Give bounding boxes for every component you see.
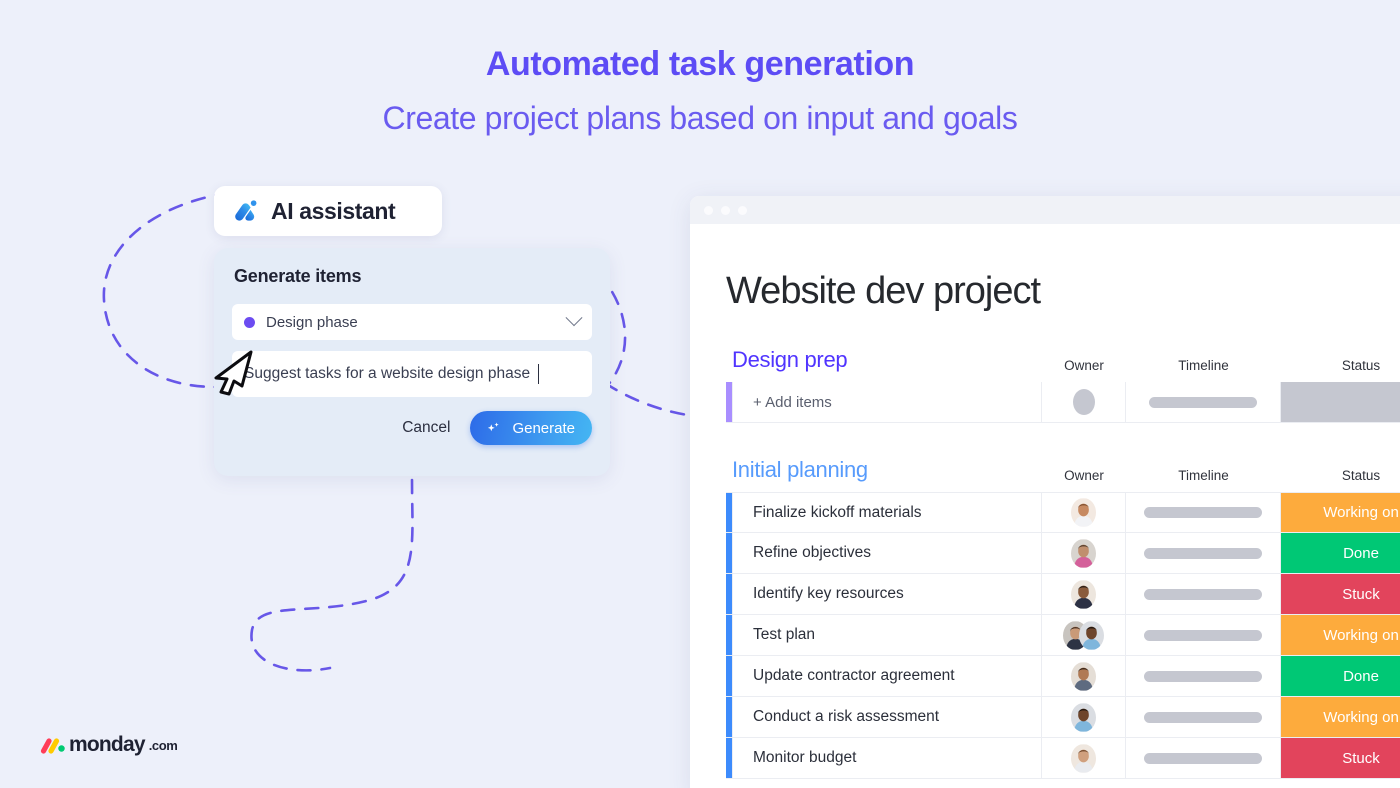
timeline-cell[interactable]	[1126, 574, 1281, 614]
board-title: Website dev project	[726, 270, 1400, 313]
table-body: Finalize kickoff materialsWorking onRefi…	[726, 492, 1400, 779]
owner-cell[interactable]	[1042, 574, 1126, 614]
generate-button-label: Generate	[512, 420, 575, 437]
group-title[interactable]: Initial planning	[726, 457, 1042, 483]
generate-items-title: Generate items	[234, 266, 592, 287]
avatar-placeholder	[1073, 389, 1095, 415]
owner-cell[interactable]	[1042, 493, 1126, 532]
board-select-value: Design phase	[266, 314, 568, 331]
board-select[interactable]: Design phase	[232, 304, 592, 340]
avatar[interactable]	[1071, 662, 1096, 691]
timeline-placeholder	[1149, 397, 1257, 408]
page-title: Automated task generation	[0, 44, 1400, 85]
avatar[interactable]	[1071, 498, 1096, 527]
status-badge[interactable]: Done	[1281, 533, 1400, 573]
item-name-cell[interactable]: Identify key resources	[732, 574, 1042, 614]
item-name-cell[interactable]: Update contractor agreement	[732, 656, 1042, 696]
table-row[interactable]: Identify key resourcesStuck	[726, 574, 1400, 615]
board-group-initial-planning: Initial planning Owner Timeline Status F…	[726, 457, 1400, 779]
close-dot-icon[interactable]	[704, 206, 713, 215]
board-body: Website dev project Design prep Owner Ti…	[690, 224, 1400, 779]
status-badge[interactable]: Working on	[1281, 493, 1400, 532]
owner-cell[interactable]	[1042, 738, 1126, 778]
page-subtitle: Create project plans based on input and …	[0, 99, 1400, 137]
item-name-cell[interactable]: Test plan	[732, 615, 1042, 655]
table-row[interactable]: Update contractor agreementDone	[726, 656, 1400, 697]
add-items-row[interactable]: + Add items	[726, 382, 1400, 423]
add-items-label: + Add items	[753, 394, 832, 411]
header: Automated task generation Create project…	[0, 44, 1400, 137]
timeline-bar	[1144, 671, 1262, 682]
table-row[interactable]: Conduct a risk assessmentWorking on	[726, 697, 1400, 738]
group-header: Initial planning Owner Timeline Status	[726, 457, 1400, 483]
timeline-bar	[1144, 507, 1262, 518]
avatar[interactable]	[1071, 539, 1096, 568]
status-badge[interactable]: Stuck	[1281, 738, 1400, 778]
owner-cell[interactable]	[1042, 533, 1126, 573]
generate-items-card: Generate items Design phase Suggest task…	[214, 248, 610, 476]
status-badge[interactable]: Working on	[1281, 697, 1400, 737]
avatar-group[interactable]	[1063, 621, 1104, 650]
monday-wordmark: monday	[69, 733, 145, 757]
monday-tld: .com	[149, 738, 178, 753]
column-header-timeline: Timeline	[1126, 358, 1281, 373]
board-group-design-prep: Design prep Owner Timeline Status + Add …	[726, 347, 1400, 423]
board-window: Website dev project Design prep Owner Ti…	[690, 196, 1400, 788]
sparkles-icon	[485, 420, 502, 437]
group-title[interactable]: Design prep	[726, 347, 1042, 373]
mouse-pointer-icon	[209, 348, 255, 396]
table-row[interactable]: Monitor budgetStuck	[726, 738, 1400, 779]
timeline-cell[interactable]	[1126, 697, 1281, 737]
board-color-dot-icon	[244, 317, 255, 328]
monday-logo: monday .com	[40, 733, 177, 757]
maximize-dot-icon[interactable]	[738, 206, 747, 215]
item-name-cell[interactable]: Conduct a risk assessment	[732, 697, 1042, 737]
status-badge[interactable]: Working on	[1281, 615, 1400, 655]
timeline-bar	[1144, 712, 1262, 723]
prompt-input-value: Suggest tasks for a website design phase	[244, 365, 530, 383]
table-row[interactable]: Test planWorking on	[726, 615, 1400, 656]
timeline-bar	[1144, 548, 1262, 559]
timeline-bar	[1144, 589, 1262, 600]
timeline-cell[interactable]	[1126, 656, 1281, 696]
page-root: Automated task generation Create project…	[0, 0, 1400, 788]
prompt-input[interactable]: Suggest tasks for a website design phase	[232, 351, 592, 397]
timeline-bar	[1144, 630, 1262, 641]
column-header-timeline: Timeline	[1126, 468, 1281, 483]
column-header-status: Status	[1281, 358, 1400, 373]
monday-mark-icon	[40, 735, 66, 755]
ai-assistant-label: AI assistant	[271, 198, 395, 225]
owner-cell[interactable]	[1042, 615, 1126, 655]
owner-cell[interactable]	[1042, 697, 1126, 737]
item-name-cell[interactable]: Monitor budget	[732, 738, 1042, 778]
status-cell[interactable]	[1281, 382, 1400, 422]
avatar[interactable]	[1071, 744, 1096, 773]
column-header-owner: Owner	[1042, 358, 1126, 373]
column-header-status: Status	[1281, 468, 1400, 483]
status-badge[interactable]: Done	[1281, 656, 1400, 696]
timeline-cell[interactable]	[1126, 382, 1281, 422]
timeline-bar	[1144, 753, 1262, 764]
text-caret	[538, 364, 539, 384]
timeline-cell[interactable]	[1126, 738, 1281, 778]
table-row[interactable]: Finalize kickoff materialsWorking on	[726, 492, 1400, 533]
ai-sparkle-logo-icon	[230, 196, 260, 226]
minimize-dot-icon[interactable]	[721, 206, 730, 215]
cancel-button[interactable]: Cancel	[394, 413, 458, 443]
avatar[interactable]	[1071, 580, 1096, 609]
status-badge[interactable]: Stuck	[1281, 574, 1400, 614]
card-actions: Cancel Generate	[232, 411, 592, 445]
window-titlebar	[690, 196, 1400, 224]
item-name-cell[interactable]: Finalize kickoff materials	[732, 493, 1042, 532]
timeline-cell[interactable]	[1126, 533, 1281, 573]
timeline-cell[interactable]	[1126, 493, 1281, 532]
avatar[interactable]	[1071, 703, 1096, 732]
column-header-owner: Owner	[1042, 468, 1126, 483]
ai-assistant-chip[interactable]: AI assistant	[214, 186, 442, 236]
add-items-cell[interactable]: + Add items	[732, 382, 1042, 422]
table-row[interactable]: Refine objectivesDone	[726, 533, 1400, 574]
chevron-down-icon[interactable]	[566, 309, 583, 326]
item-name-cell[interactable]: Refine objectives	[732, 533, 1042, 573]
timeline-cell[interactable]	[1126, 615, 1281, 655]
avatar[interactable]	[1079, 621, 1104, 650]
generate-button[interactable]: Generate	[470, 411, 592, 445]
owner-cell[interactable]	[1042, 382, 1126, 422]
group-header: Design prep Owner Timeline Status	[726, 347, 1400, 373]
owner-cell[interactable]	[1042, 656, 1126, 696]
